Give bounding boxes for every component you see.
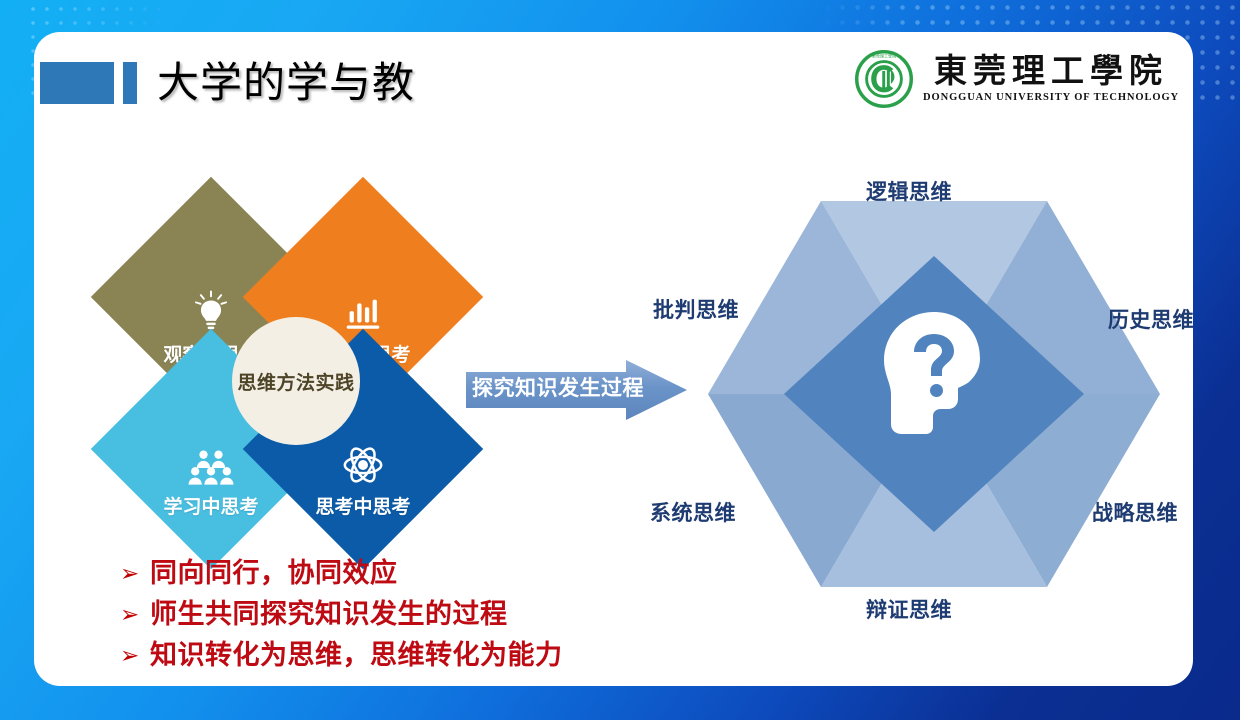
list-item: ➢ 同向同行，协同效应 (120, 557, 880, 589)
list-item-text: 知识转化为思维，思维转化为能力 (150, 639, 563, 671)
university-emblem-icon: 東莞理工學院 (855, 50, 913, 108)
university-name-block: 東莞理工學院 DONGGUAN UNIVERSITY OF TECHNOLOGY (923, 54, 1179, 105)
hexagon-label-top: 逻辑思维 (866, 176, 952, 206)
svg-text:東莞理工學院: 東莞理工學院 (872, 53, 896, 59)
university-name-cn: 東莞理工學院 (934, 54, 1168, 90)
page-title: 大学的学与教 (157, 62, 415, 104)
university-logo: 東莞理工學院 東莞理工學院 DONGGUAN UNIVERSITY OF TEC… (855, 50, 1179, 108)
process-arrow-label: 探究知识发生过程 (472, 376, 644, 402)
people-group-icon (186, 448, 236, 488)
slide-background: 大学的学与教 東莞理工學院 東莞理工學院 DONGGUAN UNIVERSITY… (0, 0, 1240, 720)
quadrant-label: 思考中思考 (315, 498, 410, 518)
bullet-marker-icon: ➢ (120, 562, 150, 585)
thinking-methods-diagram: 观察中思考 实践中思考 (126, 212, 498, 542)
atom-icon (340, 442, 386, 488)
key-points-list: ➢ 同向同行，协同效应 ➢ 师生共同探究知识发生的过程 ➢ 知识转化为思维，思维… (120, 557, 880, 680)
diagram-center-label: 思维方法实践 (237, 368, 354, 395)
list-item-text: 同向同行，协同效应 (150, 557, 398, 589)
list-item: ➢ 师生共同探究知识发生的过程 (120, 598, 880, 630)
university-name-en: DONGGUAN UNIVERSITY OF TECHNOLOGY (923, 91, 1179, 105)
bullet-marker-icon: ➢ (120, 603, 150, 626)
hexagon-label-lower-right: 战略思维 (1092, 497, 1178, 527)
diagram-center-circle: 思维方法实践 (232, 317, 360, 445)
list-item: ➢ 知识转化为思维，思维转化为能力 (120, 639, 880, 671)
bullet-marker-icon: ➢ (120, 644, 150, 667)
list-item-text: 师生共同探究知识发生的过程 (150, 598, 508, 630)
slide-title-block: 大学的学与教 (40, 62, 415, 104)
hexagon-label-upper-right: 历史思维 (1108, 304, 1194, 334)
title-accent-block-large (40, 62, 114, 104)
hexagon-label-lower-left: 系统思维 (650, 497, 736, 527)
quadrant-label: 学习中思考 (163, 498, 258, 518)
title-accent-block-small (123, 62, 137, 104)
hexagon-label-upper-left: 批判思维 (653, 294, 739, 324)
slide-content-card: 大学的学与教 東莞理工學院 東莞理工學院 DONGGUAN UNIVERSITY… (34, 32, 1193, 686)
